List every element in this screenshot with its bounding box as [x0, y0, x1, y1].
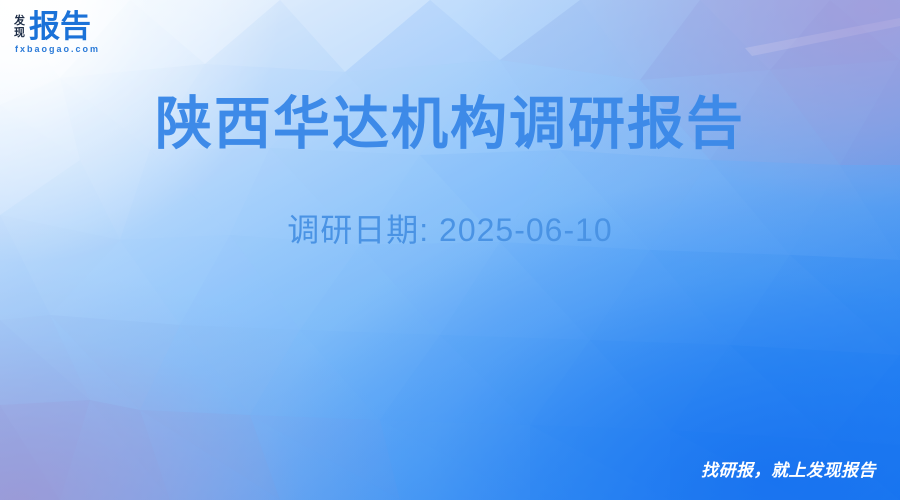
brand-logo-wordmark: 报告	[29, 10, 91, 43]
report-cover: 发 现 报告 fxbaogao.com 陕西华达机构调研报告 调研日期: 202…	[0, 0, 900, 500]
brand-logo[interactable]: 发 现 报告 fxbaogao.com	[14, 10, 100, 55]
brand-tagline: 找研报，就上发现报告	[701, 460, 876, 482]
brand-logo-mark-top: 发	[14, 15, 25, 27]
brand-logo-url: fxbaogao.com	[15, 44, 100, 55]
low-poly-background	[0, 0, 900, 500]
brand-logo-mark-bottom: 现	[14, 27, 25, 39]
brand-logo-mark: 发 现	[14, 14, 25, 39]
brand-logo-row: 发 现 报告	[14, 10, 100, 43]
